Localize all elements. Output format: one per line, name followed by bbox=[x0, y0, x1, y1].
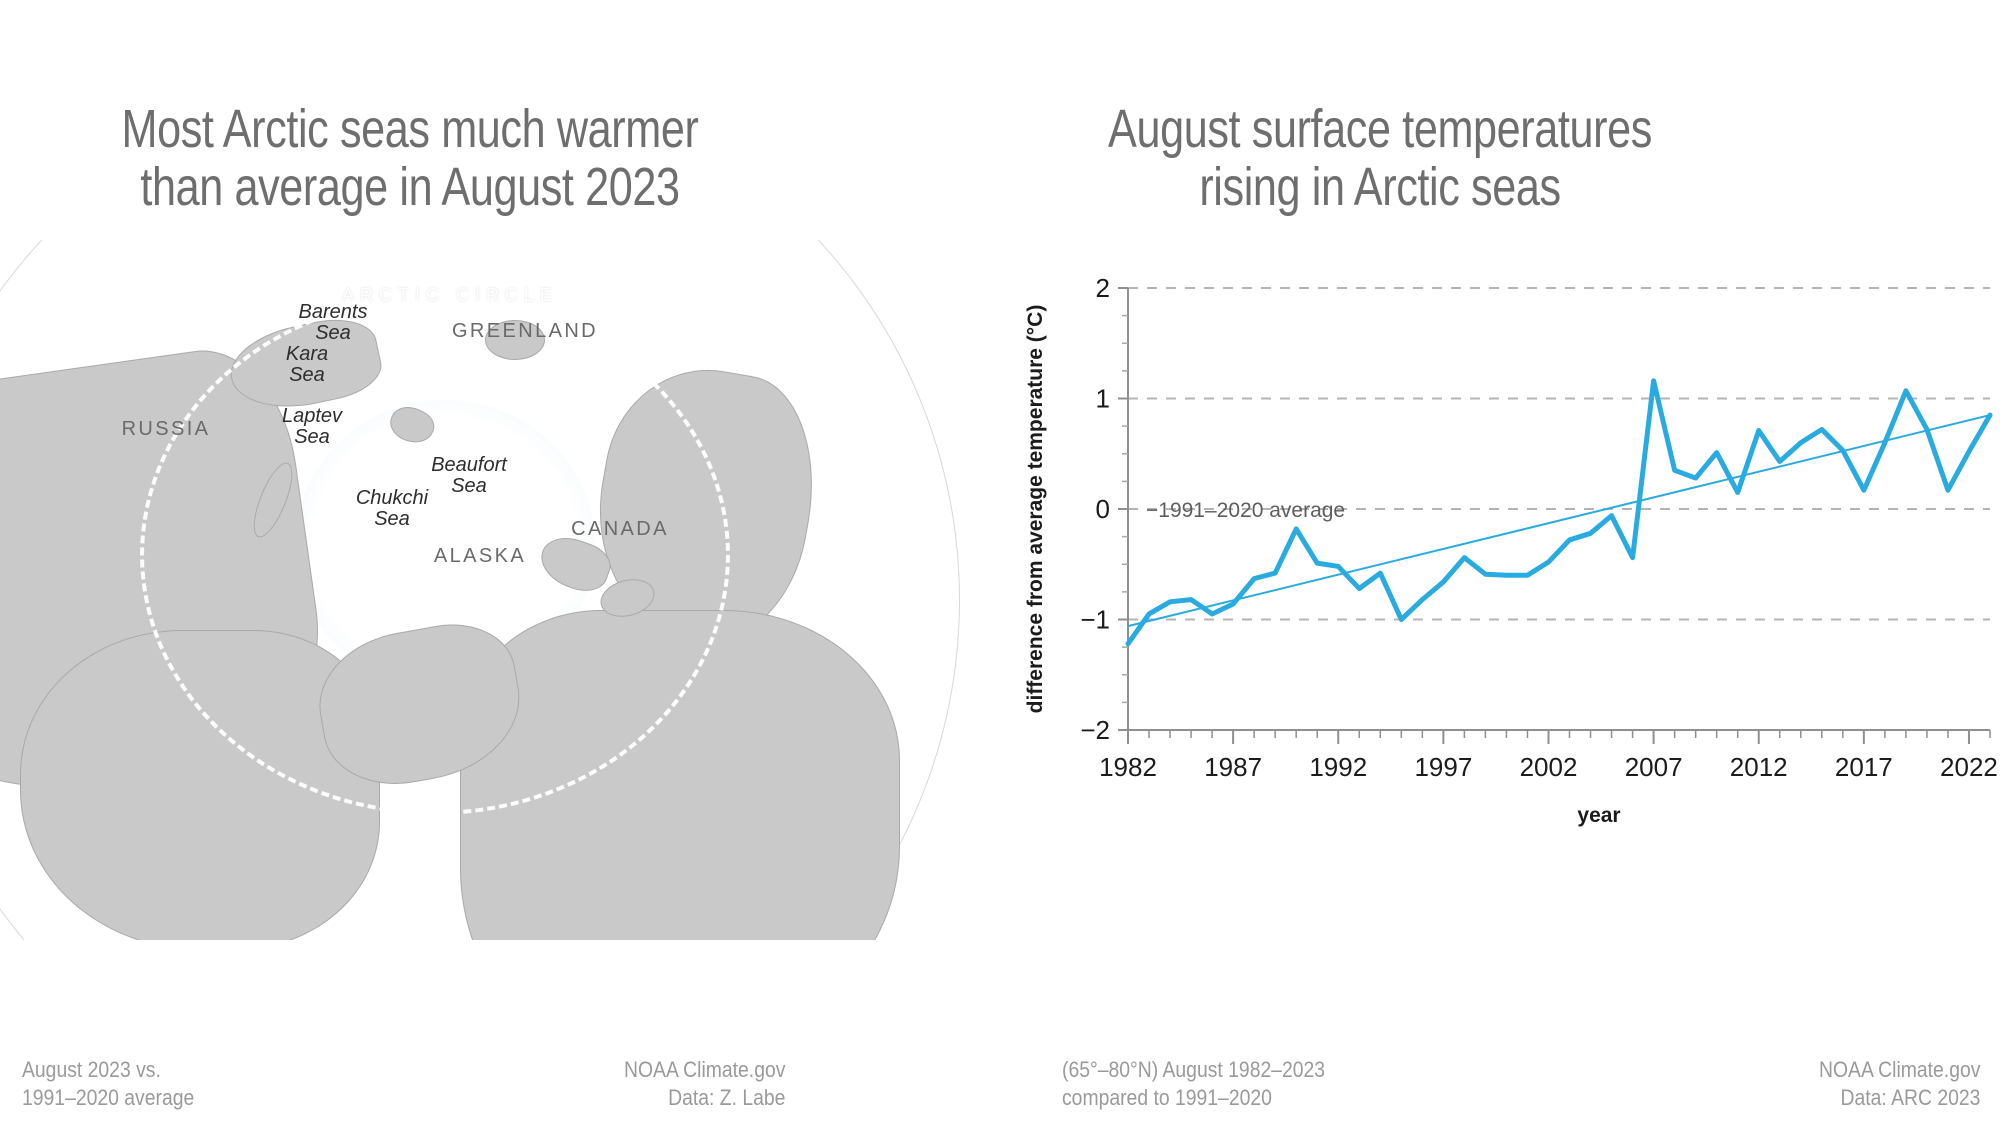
chart-y-axis: −2−1012 bbox=[1080, 273, 1128, 745]
y-tick-label: −2 bbox=[1080, 715, 1110, 745]
page-title-left: Most Arctic seas much warmer than averag… bbox=[106, 100, 714, 217]
x-tick-label: 1997 bbox=[1414, 752, 1472, 782]
x-tick-label: 2002 bbox=[1520, 752, 1578, 782]
y-axis-title: difference from average temperature (°C) bbox=[1024, 305, 1047, 714]
footer-right-note: (65°–80°N) August 1982–2023 compared to … bbox=[1062, 1056, 1325, 1112]
x-tick-label: 1982 bbox=[1099, 752, 1157, 782]
y-tick-label: 2 bbox=[1096, 273, 1110, 303]
footer-right-credit: NOAA Climate.gov Data: ARC 2023 bbox=[1819, 1056, 1980, 1112]
sst-anomaly-globe bbox=[0, 240, 960, 940]
x-tick-label: 2012 bbox=[1730, 752, 1788, 782]
page-title-right: August surface temperatures rising in Ar… bbox=[1076, 100, 1684, 217]
footer-left-note: August 2023 vs. 1991–2020 average bbox=[22, 1056, 194, 1112]
x-tick-label: 1992 bbox=[1309, 752, 1367, 782]
footer-left-credit: NOAA Climate.gov Data: Z. Labe bbox=[624, 1056, 785, 1112]
x-tick-label: 2007 bbox=[1625, 752, 1683, 782]
x-tick-label: 2017 bbox=[1835, 752, 1893, 782]
chart-x-axis: 198219871992199720022007201220172022 bbox=[1099, 730, 1998, 782]
infographic-root: Most Arctic seas much warmer than averag… bbox=[0, 0, 2000, 1127]
timeseries-chart-panel: −2−1012 19821987199219972002200720122017… bbox=[1000, 240, 2000, 1000]
baseline-annotation: −1991–2020 average bbox=[1146, 499, 1345, 522]
x-tick-label: 1987 bbox=[1204, 752, 1262, 782]
y-tick-label: −1 bbox=[1080, 605, 1110, 635]
y-tick-label: 0 bbox=[1096, 494, 1110, 524]
x-tick-label: 2022 bbox=[1940, 752, 1998, 782]
arctic-circle-ring bbox=[140, 295, 730, 815]
y-tick-label: 1 bbox=[1096, 384, 1110, 414]
timeseries-svg: −2−1012 19821987199219972002200720122017… bbox=[1000, 240, 2000, 1000]
globe-clip bbox=[0, 240, 1000, 940]
arctic-map-panel: ARCTIC CIRCLE Barents Sea Kara Sea Lapte… bbox=[0, 240, 1000, 960]
x-axis-title: year bbox=[1577, 804, 1620, 827]
